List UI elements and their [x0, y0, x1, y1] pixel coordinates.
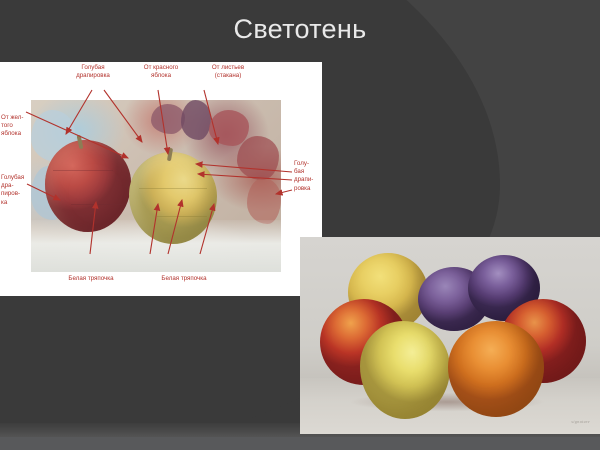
label-white-cloth-left: Белая тряпочка — [58, 275, 124, 283]
photo-fruit-peach-orange — [448, 321, 544, 417]
label-from-leaves-glass: От листьев (стакана) — [198, 64, 258, 80]
label-from-yellow-apple: От жел- того яблока — [1, 114, 29, 139]
photo-fruit-shadow — [312, 389, 582, 415]
annotated-watercolor-panel: Голубая драпировка От красного яблока От… — [0, 62, 322, 296]
photo-fruit-peach-front — [360, 321, 450, 419]
slide-title: Светотень — [0, 14, 600, 45]
watercolor-leaf-shape — [181, 100, 211, 140]
watercolor-facet — [139, 188, 207, 189]
background-bottom-bar — [0, 437, 600, 450]
watercolor-leaf-shape — [247, 178, 281, 224]
presentation-slide: Светотень — [0, 0, 600, 450]
fruit-still-life-photo: signature — [300, 237, 600, 434]
watercolor-facet — [53, 170, 113, 171]
watercolor-leaf-shape — [151, 104, 185, 134]
watercolor-painting — [31, 100, 281, 272]
watercolor-leaf-shape — [209, 110, 249, 146]
watercolor-facet — [71, 204, 123, 205]
label-white-cloth-right: Белая тряпочка — [148, 275, 220, 283]
label-blue-drapery-top: Голубая драпировка — [62, 64, 124, 80]
watercolor-facet — [157, 216, 207, 217]
label-from-red-apple: От красного яблока — [132, 64, 190, 80]
label-blue-drapery-right: Голу- бая драпи- ровка — [294, 160, 322, 193]
watercolor-canvas — [31, 100, 281, 272]
photo-signature: signature — [571, 419, 590, 424]
watercolor-yellow-apple — [129, 152, 217, 244]
watercolor-leaf-shape — [237, 136, 279, 180]
label-blue-drapery-left: Голубая дра- пиров- ка — [1, 174, 29, 207]
